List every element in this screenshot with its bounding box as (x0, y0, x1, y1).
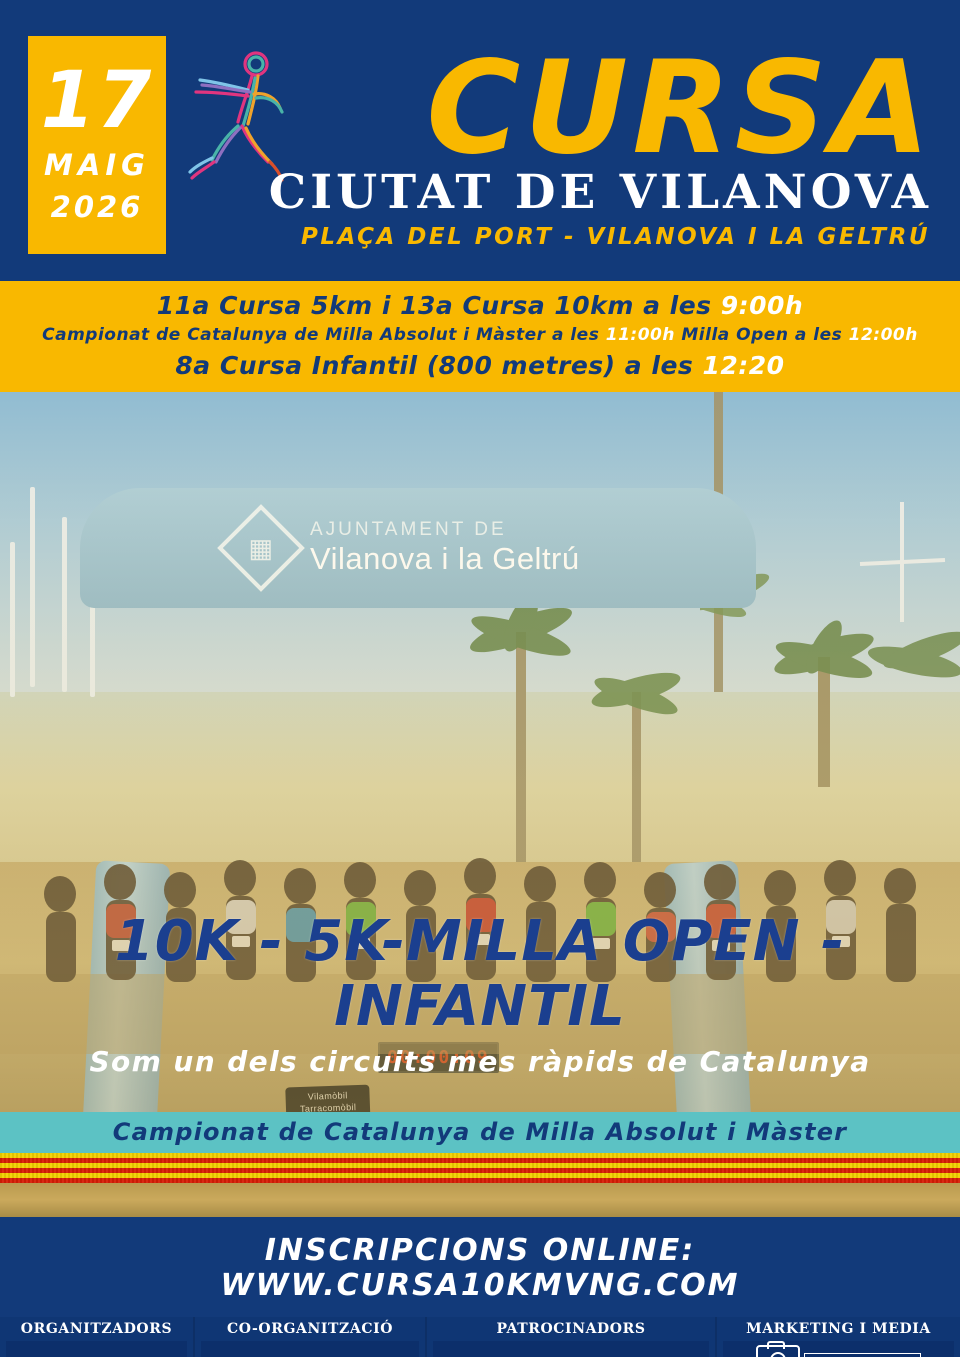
gold-strip (0, 1183, 960, 1217)
championship-band: Campionat de Catalunya de Milla Absolut … (0, 1112, 960, 1153)
schedule-line-1: 11a Cursa 5km i 13a Cursa 10km a les 9:0… (0, 291, 960, 320)
registration-bar[interactable]: INSCRIPCIONS ONLINE: WWW.CURSA10KMVNG.CO… (0, 1217, 960, 1317)
schedule-line-3-text: 8a Cursa Infantil (800 metres) a les (175, 351, 702, 380)
sailboat-mast (30, 487, 35, 687)
camera-icon (756, 1345, 800, 1357)
event-day: 17 (41, 66, 154, 138)
sponsor-column-coorganitzacio: CO-ORGANITZACIÓ FCA FEDERACIÓ CATALANA A… (193, 1317, 425, 1357)
championship-text: Campionat de Catalunya de Milla Absolut … (113, 1118, 847, 1146)
headline-block: 10K - 5K-MILLA OPEN -INFANTIL Som un del… (0, 909, 960, 1078)
event-month: MAIG (44, 148, 150, 182)
registration-url[interactable]: INSCRIPCIONS ONLINE: WWW.CURSA10KMVNG.CO… (221, 1233, 740, 1303)
schedule-line-2-time-2: 12:00h (849, 325, 918, 345)
abel-perez-label: ABEL PEREZ PHOTO FILM (804, 1353, 920, 1357)
sponsors-section: ORGANITZADORS C.A.ATLETESVNG.ORG (0, 1317, 960, 1357)
page-subtitle: CIUTAT DE VILANOVA (196, 165, 944, 220)
title-block: CURSA CIUTAT DE VILANOVA PLAÇA DEL PORT … (196, 46, 944, 250)
sponsor-column-marketing: MARKETING I MEDIA ABEL PEREZ PHOTO FILM … (715, 1317, 960, 1357)
race-photo: ▦ AJUNTAMENT DE Vilanova i la Geltrú 00:… (0, 392, 960, 1112)
event-location: PLAÇA DEL PORT - VILANOVA I LA GELTRÚ (196, 224, 944, 250)
sponsor-column-organitzadors: ORGANITZADORS C.A.ATLETESVNG.ORG (0, 1317, 193, 1357)
schedule-line-1-text: 11a Cursa 5km i 13a Cursa 10km a les (157, 291, 721, 320)
sailboat-mast (62, 517, 67, 692)
arch-text-line-2: Vilanova i la Geltrú (310, 541, 580, 577)
event-date-box: 17 MAIG 2026 (28, 36, 166, 254)
schedule-banner: 11a Cursa 5km i 13a Cursa 10km a les 9:0… (0, 278, 960, 392)
arch-text-line-1: AJUNTAMENT DE (310, 519, 580, 541)
event-year: 2026 (51, 190, 144, 224)
schedule-line-3: 8a Cursa Infantil (800 metres) a les 12:… (0, 351, 960, 380)
schedule-line-2: Campionat de Catalunya de Milla Absolut … (0, 325, 960, 345)
schedule-line-3-time: 12:20 (703, 351, 785, 380)
schedule-line-2-text-b: Milla Open a les (675, 325, 849, 345)
sponsor-heading: MARKETING I MEDIA (746, 1321, 931, 1337)
schedule-line-1-time: 9:00h (721, 291, 803, 320)
sponsor-heading: CO-ORGANITZACIÓ (227, 1321, 393, 1337)
sponsor-column-patrocinadors: PATROCINADORS Telemàtic PENDENNIS (425, 1317, 715, 1357)
race-poster: 17 MAIG 2026 (0, 0, 960, 1357)
schedule-line-2-time-1: 11:00h (606, 325, 675, 345)
catalan-flag-stripes (0, 1153, 960, 1183)
headline-sub: Som un dels circuits mes ràpids de Catal… (0, 1045, 960, 1078)
inflatable-arch-banner: ▦ AJUNTAMENT DE Vilanova i la Geltrú (80, 488, 756, 608)
sponsor-heading: ORGANITZADORS (21, 1321, 172, 1337)
poster-header: 17 MAIG 2026 (0, 0, 960, 278)
sailboat-mast (10, 542, 15, 697)
city-shield-icon: ▦ (217, 504, 305, 592)
headline-main: 10K - 5K-MILLA OPEN -INFANTIL (0, 909, 960, 1039)
start-line-banner: Vilamòbil Tarracomòbil Reusmòbil (285, 1085, 371, 1112)
start-banner-line-2: Tarracomòbil (300, 1101, 357, 1112)
sponsor-heading: PATROCINADORS (496, 1321, 645, 1337)
abel-perez-photo-logo: ABEL PEREZ PHOTO FILM (756, 1345, 920, 1357)
page-title: CURSA (196, 46, 944, 171)
schedule-line-2-text: Campionat de Catalunya de Milla Absolut … (42, 325, 606, 345)
